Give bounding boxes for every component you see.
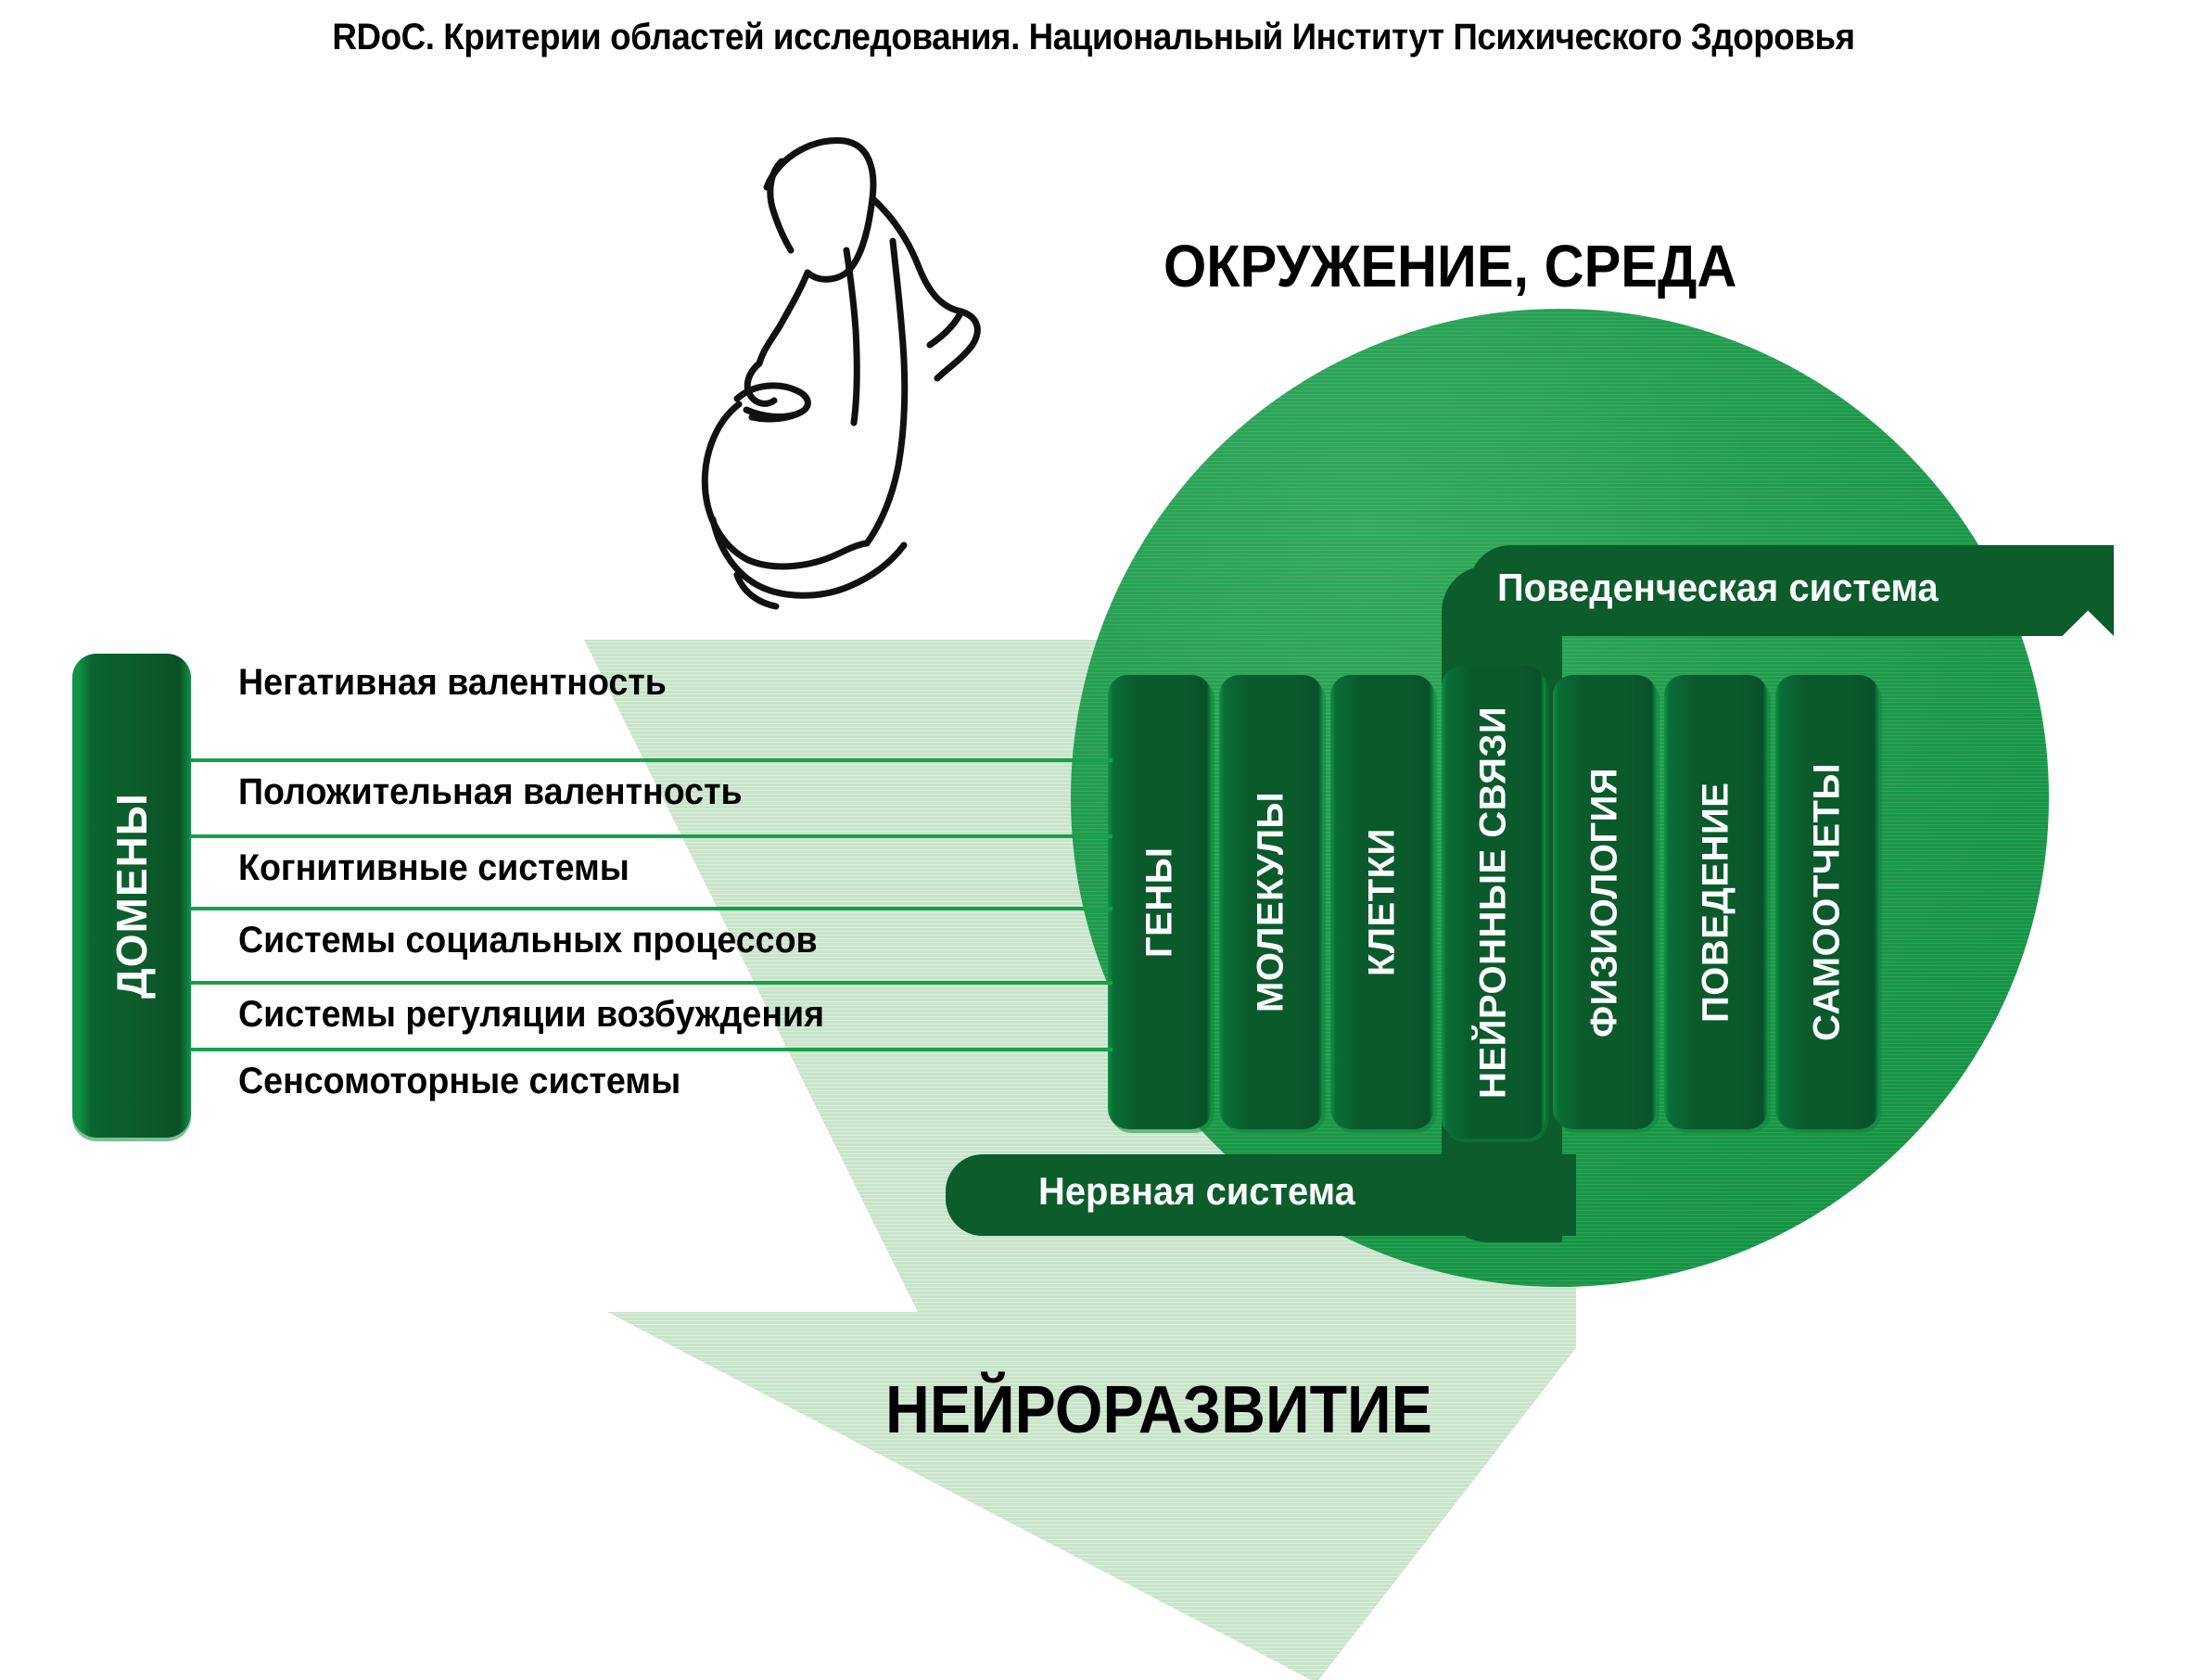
domain-label: Системы регуляции возбуждения — [238, 994, 824, 1036]
page-title: RDoC. Критерии областей исследования. На… — [87, 17, 2099, 58]
unit-column-neural-circuits[interactable]: НЕЙРОННЫЕ СВЯЗИ — [1442, 666, 1545, 1139]
domain-row[interactable]: Системы социальных процессов — [190, 907, 1117, 981]
domain-row[interactable]: Положительная валентность — [190, 758, 1117, 833]
domain-row[interactable]: Когнитивные системы — [190, 834, 1117, 909]
unit-column-label: НЕЙРОННЫЕ СВЯЗИ — [1442, 666, 1545, 1139]
domains-bar-label: ДОМЕНЫ — [72, 654, 191, 1138]
nervous-banner-label: Нервная система — [1038, 1169, 1355, 1214]
behavioural-banner-label: Поведенческая система — [1497, 566, 1939, 610]
domain-divider — [190, 981, 1113, 985]
domain-label: Системы социальных процессов — [238, 920, 818, 961]
domain-divider — [190, 907, 1113, 910]
unit-column-label: МОЛЕКУЛЫ — [1219, 675, 1323, 1129]
pregnant-woman-icon — [598, 111, 1006, 630]
domain-label: Негативная валентность — [238, 662, 667, 704]
domain-divider — [190, 834, 1113, 838]
unit-column-label: КЛЕТКИ — [1330, 675, 1434, 1129]
domain-label: Сенсомоторные системы — [238, 1061, 680, 1102]
unit-column-physiology[interactable]: ФИЗИОЛОГИЯ — [1553, 675, 1657, 1129]
behavioural-system-banner: Поведенческая система — [1469, 545, 2114, 636]
unit-column-genes[interactable]: ГЕНЫ — [1108, 675, 1212, 1129]
unit-column-label: ФИЗИОЛОГИЯ — [1553, 675, 1657, 1129]
domain-label: Когнитивные системы — [238, 847, 629, 889]
domain-row[interactable]: Сенсомоторные системы — [190, 1048, 1117, 1122]
domain-divider — [190, 758, 1113, 762]
unit-column-label: ПОВЕДЕНИЕ — [1664, 675, 1768, 1129]
unit-column-self-reports[interactable]: САМООТЧЕТЫ — [1775, 675, 1879, 1129]
neurodevelopment-heading: НЕЙРОРАЗВИТИЕ — [885, 1372, 1432, 1448]
domains-bar[interactable]: ДОМЕНЫ — [72, 654, 191, 1138]
unit-column-cells[interactable]: КЛЕТКИ — [1330, 675, 1434, 1129]
domain-list: Негативная валентность Положительная вал… — [190, 649, 1117, 1140]
nervous-system-banner: Нервная система — [946, 1154, 1576, 1236]
unit-column-molecules[interactable]: МОЛЕКУЛЫ — [1219, 675, 1323, 1129]
domain-row[interactable]: Негативная валентность — [190, 649, 1117, 723]
domain-label: Положительная валентность — [238, 771, 743, 813]
environment-heading: ОКРУЖЕНИЕ, СРЕДА — [1163, 232, 1736, 300]
rdoc-diagram: RDoC. Критерии областей исследования. На… — [0, 0, 2187, 1680]
domain-row[interactable]: Системы регуляции возбуждения — [190, 981, 1117, 1055]
unit-column-behaviour[interactable]: ПОВЕДЕНИЕ — [1664, 675, 1768, 1129]
unit-column-label: ГЕНЫ — [1108, 675, 1212, 1129]
units-of-analysis-columns: ГЕНЫ МОЛЕКУЛЫ КЛЕТКИ НЕЙРОННЫЕ СВЯЗИ ФИЗ… — [1108, 675, 1887, 1129]
domain-divider — [190, 1048, 1113, 1051]
unit-column-label: САМООТЧЕТЫ — [1775, 675, 1879, 1129]
